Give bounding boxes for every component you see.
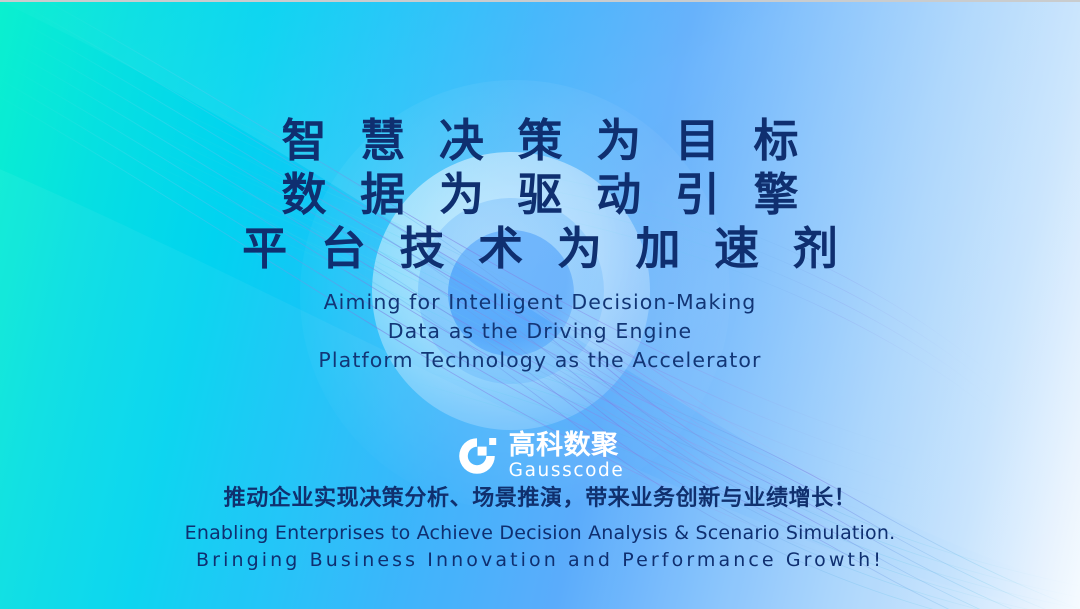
subtitle-line-3: Platform Technology as the Accelerator [0, 346, 1080, 375]
footer-tagline-en-line1: Enabling Enterprises to Achieve Decision… [0, 520, 1080, 547]
footer-tagline-cn: 推动企业实现决策分析、场景推演，带来业务创新与业绩增长！ [0, 484, 1080, 514]
headline-line-3: 平 台 技 术 为 加 速 剂 [0, 222, 1080, 276]
gausscode-ring-logo-icon [456, 435, 498, 477]
headline-line-1: 智 慧 决 策 为 目 标 [0, 114, 1080, 168]
logo-wordmark: 高科数聚 Gausscode [509, 432, 625, 481]
page-title: 智 慧 决 策 为 目 标 数 据 为 驱 动 引 擎 平 台 技 术 为 加 … [0, 114, 1080, 276]
subtitle-line-1: Aiming for Intelligent Decision-Making [0, 288, 1080, 317]
promotional-banner: 智 慧 决 策 为 目 标 数 据 为 驱 动 引 擎 平 台 技 术 为 加 … [0, 0, 1080, 609]
company-logo: 高科数聚 Gausscode [0, 432, 1080, 481]
logo-name-en: Gausscode [509, 462, 625, 481]
footer-tagline-en-line2: Bringing Business Innovation and Perform… [0, 547, 1080, 574]
footer-tagline: 推动企业实现决策分析、场景推演，带来业务创新与业绩增长！ Enabling En… [0, 484, 1080, 574]
subtitle: Aiming for Intelligent Decision-Making D… [0, 288, 1080, 375]
subtitle-line-2: Data as the Driving Engine [0, 317, 1080, 346]
headline-line-2: 数 据 为 驱 动 引 擎 [0, 168, 1080, 222]
logo-name-cn: 高科数聚 [509, 432, 625, 459]
